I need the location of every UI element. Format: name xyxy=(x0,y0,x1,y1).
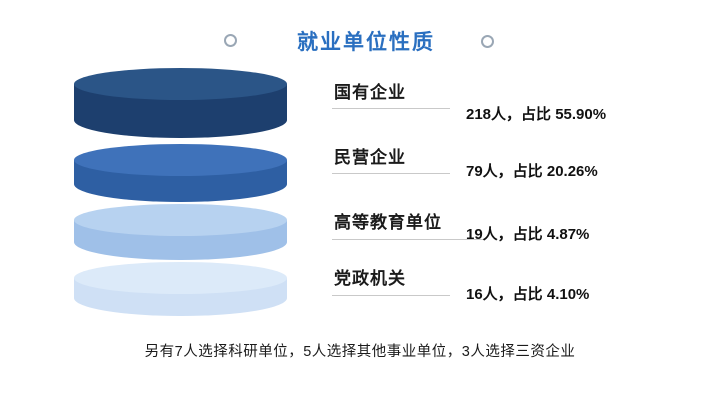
category-label-1: 国有企业 xyxy=(334,78,406,103)
cylinder-top-2 xyxy=(74,144,287,176)
separator-2 xyxy=(332,173,450,174)
decorative-circle-left-icon xyxy=(224,34,237,47)
cylinder-chart xyxy=(74,68,294,318)
value-label-3: 19人，占比 4.87% xyxy=(466,223,589,244)
page-title: 就业单位性质 xyxy=(276,26,456,56)
separator-1 xyxy=(332,108,450,109)
category-label-2: 民营企业 xyxy=(334,143,406,168)
separator-3 xyxy=(332,239,484,240)
value-label-1: 218人，占比 55.90% xyxy=(466,103,606,124)
cylinder-top-1 xyxy=(74,68,287,100)
cylinder-top-4 xyxy=(74,262,287,294)
value-label-4: 16人，占比 4.10% xyxy=(466,283,589,304)
separator-4 xyxy=(332,295,450,296)
category-label-4: 党政机关 xyxy=(334,264,406,289)
category-label-3: 高等教育单位 xyxy=(334,208,442,233)
value-label-2: 79人，占比 20.26% xyxy=(466,160,598,181)
slide-header: 就业单位性质 xyxy=(0,14,720,54)
footnote-text: 另有7人选择科研单位，5人选择其他事业单位，3人选择三资企业 xyxy=(0,340,720,361)
slide-canvas: 就业单位性质 国有企业 民营企业 高等教育单位 党政机关 218人，占比 55.… xyxy=(0,0,720,405)
decorative-circle-right-icon xyxy=(481,35,494,48)
cylinder-top-3 xyxy=(74,204,287,236)
